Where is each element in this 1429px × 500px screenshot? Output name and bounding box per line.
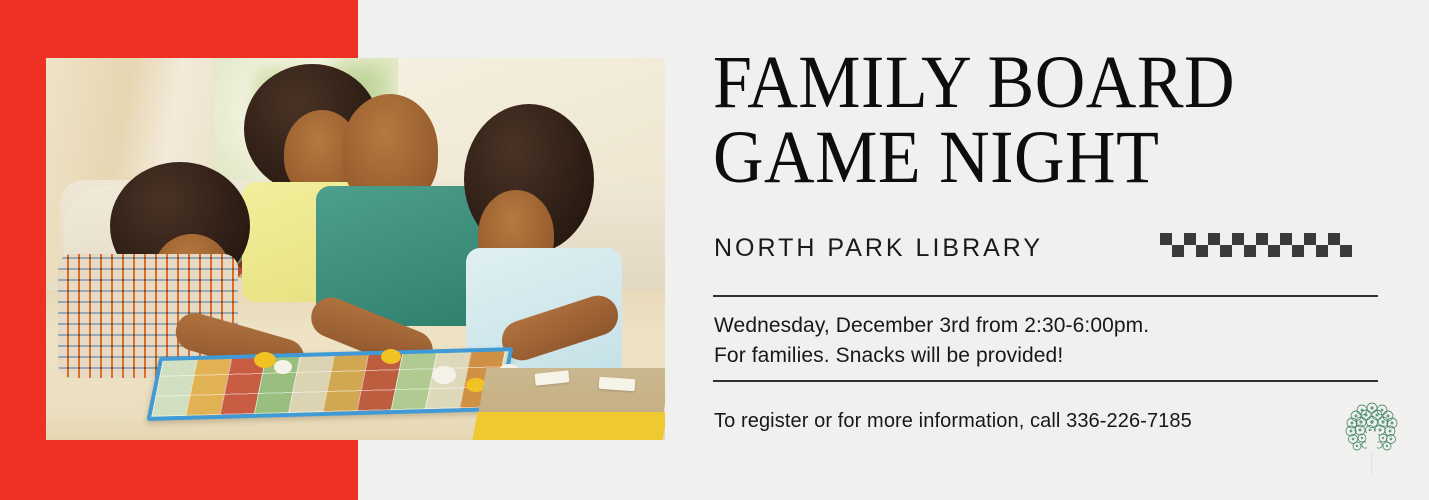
poster-subtitle: NORTH PARK LIBRARY: [714, 234, 1043, 263]
photo-game-card-2: [599, 377, 636, 391]
checker-square-bottom-7: [1316, 245, 1328, 257]
checkerboard-pattern: [1160, 233, 1360, 263]
checker-square-top-2: [1184, 233, 1196, 245]
checker-square-bottom-8: [1340, 245, 1352, 257]
library-tree-logo: [1345, 396, 1399, 476]
checker-square-top-6: [1280, 233, 1292, 245]
divider-top: [713, 295, 1378, 297]
checker-square-top-8: [1328, 233, 1340, 245]
content-column: FAMILY BOARD GAME NIGHT NORTH PARK LIBRA…: [713, 0, 1378, 500]
event-details-line-1: Wednesday, December 3rd from 2:30-6:00pm…: [714, 311, 1149, 341]
checker-square-top-1: [1160, 233, 1172, 245]
checker-square-top-4: [1232, 233, 1244, 245]
poster-title: FAMILY BOARD GAME NIGHT: [713, 46, 1378, 196]
poster-canvas: FAMILY BOARD GAME NIGHT NORTH PARK LIBRA…: [0, 0, 1429, 500]
checker-square-bottom-1: [1172, 245, 1184, 257]
checker-square-bottom-4: [1244, 245, 1256, 257]
photo-game-piece-yellow-1: [254, 352, 276, 368]
registration-info: To register or for more information, cal…: [714, 410, 1192, 433]
photo-game-box-edge: [473, 412, 665, 440]
family-photo-scene: [46, 58, 665, 440]
checker-square-bottom-3: [1220, 245, 1232, 257]
event-details-line-2: For families. Snacks will be provided!: [714, 341, 1149, 371]
checker-square-bottom-5: [1268, 245, 1280, 257]
title-line-1: FAMILY BOARD: [713, 42, 1235, 124]
title-line-2: GAME NIGHT: [713, 117, 1159, 199]
checker-square-top-3: [1208, 233, 1220, 245]
family-photo: [46, 58, 665, 440]
photo-board-game: [146, 347, 513, 421]
checker-square-bottom-6: [1292, 245, 1304, 257]
photo-game-piece-white-1: [274, 360, 292, 374]
checker-square-bottom-2: [1196, 245, 1208, 257]
photo-game-piece-white-2: [432, 366, 456, 384]
checker-square-top-5: [1256, 233, 1268, 245]
divider-bottom: [713, 380, 1378, 382]
event-details: Wednesday, December 3rd from 2:30-6:00pm…: [714, 311, 1149, 371]
photo-board-grid: [151, 351, 508, 417]
checker-square-top-7: [1304, 233, 1316, 245]
photo-game-piece-yellow-2: [381, 349, 401, 364]
